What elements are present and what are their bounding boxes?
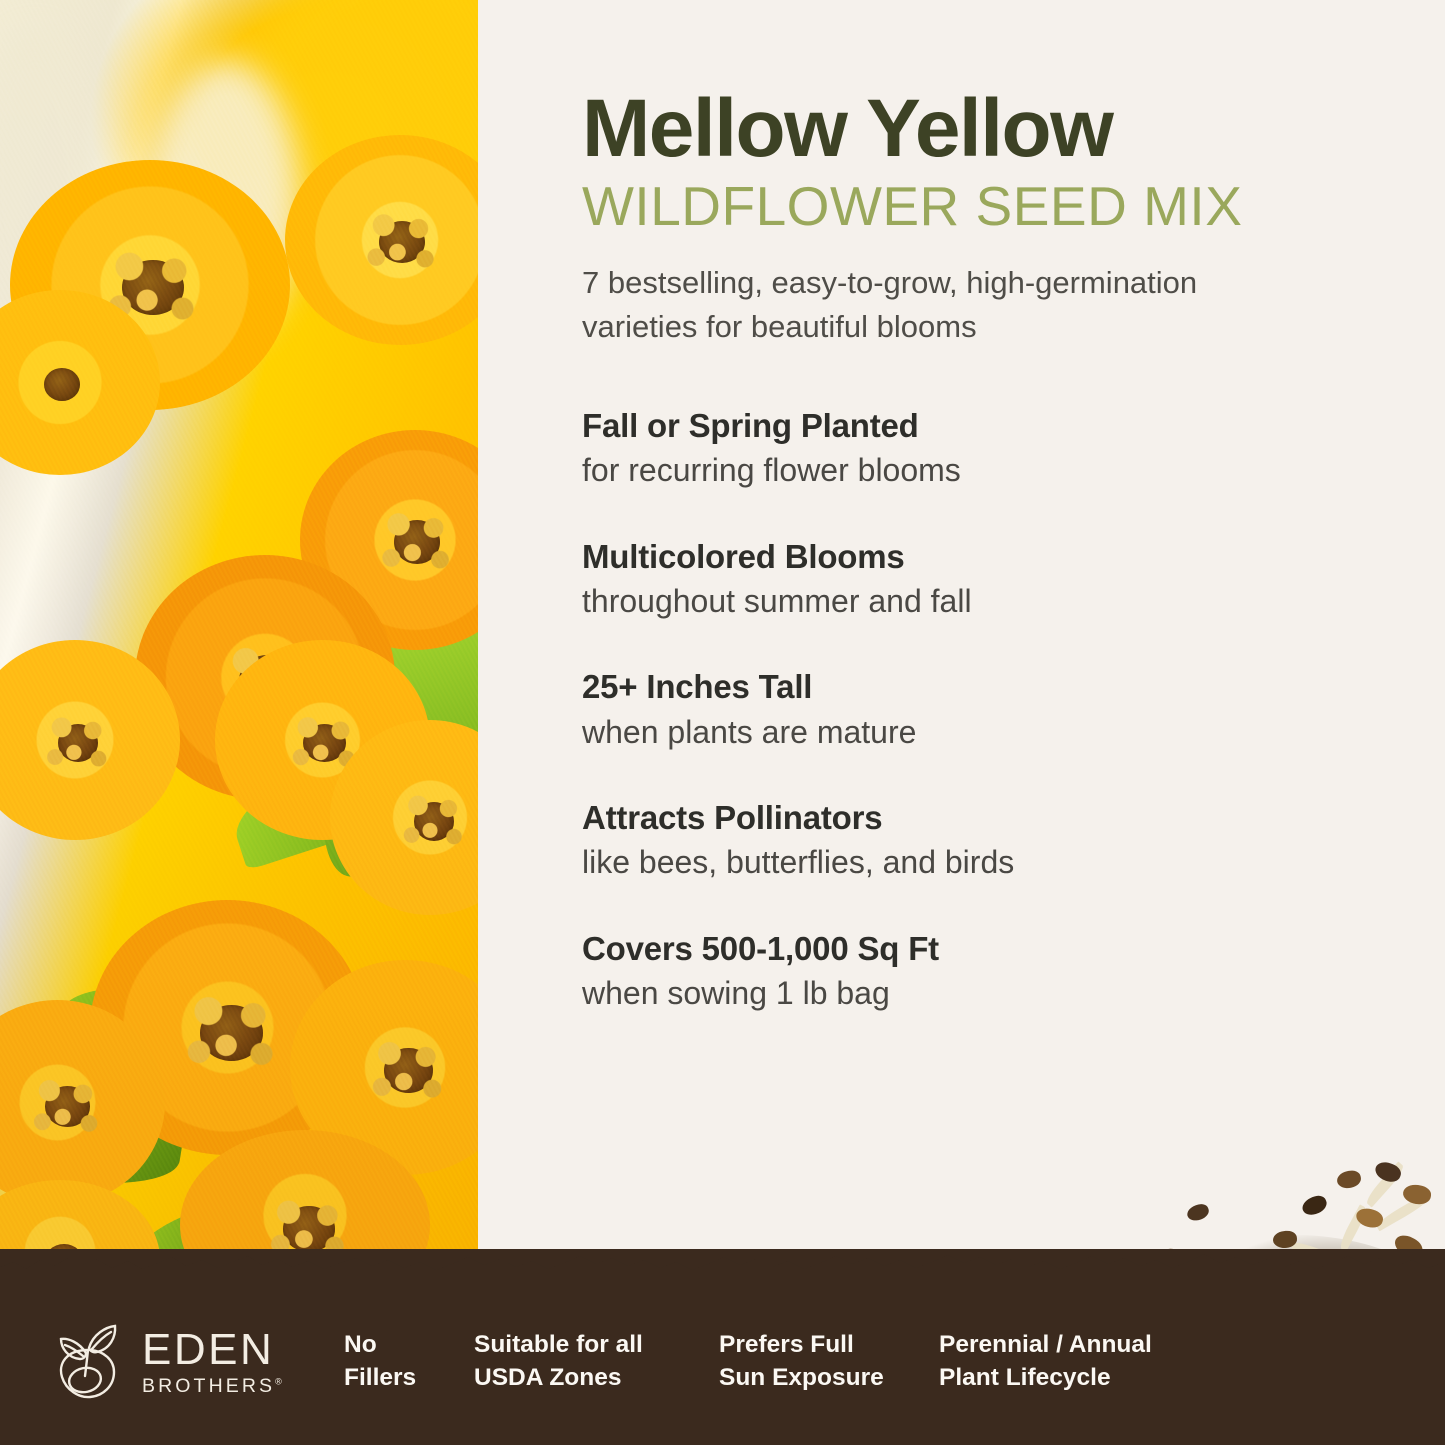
badge-usda-zones: Suitable for all USDA Zones: [474, 1329, 719, 1394]
product-infographic: Mellow Yellow WILDFLOWER SEED MIX 7 best…: [0, 0, 1445, 1445]
badge-line1: Suitable for all: [474, 1329, 719, 1362]
footer-badges: No Fillers Suitable for all USDA Zones P…: [352, 1329, 1405, 1394]
photo-grain-overlay: [0, 0, 478, 1300]
badge-line1: Prefers Full: [719, 1329, 939, 1362]
feature-item: Covers 500-1,000 Sq Ft when sowing 1 lb …: [582, 928, 1375, 1015]
feature-title: Covers 500-1,000 Sq Ft: [582, 928, 1375, 969]
badge-line2: Plant Lifecycle: [939, 1362, 1189, 1395]
brand-logo[interactable]: EDEN BROTHERS®: [52, 1320, 352, 1404]
badge-plant-lifecycle: Perennial / Annual Plant Lifecycle: [939, 1329, 1189, 1394]
feature-item: 25+ Inches Tall when plants are mature: [582, 666, 1375, 753]
torn-edge: [0, 1249, 1445, 1283]
badge-line2: Fillers: [344, 1362, 474, 1395]
feature-item: Fall or Spring Planted for recurring flo…: [582, 405, 1375, 492]
feature-subtitle: for recurring flower blooms: [582, 450, 1375, 492]
page-subtitle: WILDFLOWER SEED MIX: [582, 177, 1375, 236]
content-panel: Mellow Yellow WILDFLOWER SEED MIX 7 best…: [478, 0, 1445, 1445]
flower-photo: [0, 0, 478, 1300]
badge-line2: USDA Zones: [474, 1362, 719, 1395]
footer-bar: EDEN BROTHERS® No Fillers Suitable for a…: [0, 1279, 1445, 1445]
brand-subname: BROTHERS®: [142, 1377, 282, 1397]
feature-title: 25+ Inches Tall: [582, 666, 1375, 707]
feature-subtitle: throughout summer and fall: [582, 581, 1375, 623]
seedling-icon: [52, 1320, 126, 1404]
page-lede: 7 bestselling, easy-to-grow, high-germin…: [582, 261, 1312, 349]
feature-title: Attracts Pollinators: [582, 797, 1375, 838]
brand-name: EDEN: [142, 1328, 282, 1372]
feature-list: Fall or Spring Planted for recurring flo…: [582, 405, 1375, 1015]
feature-title: Fall or Spring Planted: [582, 405, 1375, 446]
badge-line2: Sun Exposure: [719, 1362, 939, 1395]
badge-no-fillers: No Fillers: [344, 1329, 474, 1394]
badge-line1: No: [344, 1329, 474, 1362]
page-title: Mellow Yellow: [582, 86, 1375, 171]
feature-subtitle: like bees, butterflies, and birds: [582, 842, 1375, 884]
feature-item: Attracts Pollinators like bees, butterfl…: [582, 797, 1375, 884]
feature-item: Multicolored Blooms throughout summer an…: [582, 536, 1375, 623]
brand-wordmark: EDEN BROTHERS®: [142, 1328, 282, 1397]
badge-line1: Perennial / Annual: [939, 1329, 1189, 1362]
feature-subtitle: when sowing 1 lb bag: [582, 973, 1375, 1015]
badge-sun-exposure: Prefers Full Sun Exposure: [719, 1329, 939, 1394]
feature-subtitle: when plants are mature: [582, 712, 1375, 754]
feature-title: Multicolored Blooms: [582, 536, 1375, 577]
